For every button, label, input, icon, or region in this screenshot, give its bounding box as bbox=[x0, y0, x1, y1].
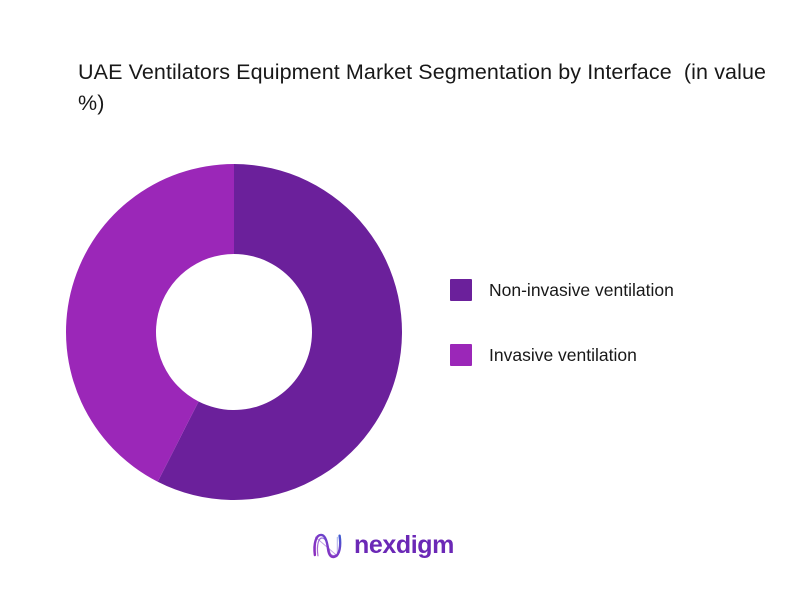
chart-title: UAE Ventilators Equipment Market Segment… bbox=[78, 57, 768, 119]
legend-item-non-invasive[interactable]: Non-invasive ventilation bbox=[450, 268, 780, 312]
nexdigm-logo: nexdigm bbox=[311, 528, 454, 562]
donut-chart bbox=[66, 164, 402, 500]
legend-label-invasive: Invasive ventilation bbox=[489, 345, 637, 365]
donut-chart-svg bbox=[66, 164, 402, 500]
nexdigm-n-wave-mark bbox=[311, 530, 345, 560]
nexdigm-logo-text: nexdigm bbox=[354, 533, 454, 558]
chart-legend: Non-invasive ventilation Invasive ventil… bbox=[450, 268, 780, 377]
legend-swatch-invasive bbox=[450, 344, 472, 366]
legend-swatch-non-invasive bbox=[450, 279, 472, 301]
legend-item-invasive[interactable]: Invasive ventilation bbox=[450, 333, 780, 377]
legend-label-non-invasive: Non-invasive ventilation bbox=[489, 280, 674, 300]
donut-slice-group bbox=[66, 164, 402, 500]
chart-figure: UAE Ventilators Equipment Market Segment… bbox=[0, 0, 800, 600]
